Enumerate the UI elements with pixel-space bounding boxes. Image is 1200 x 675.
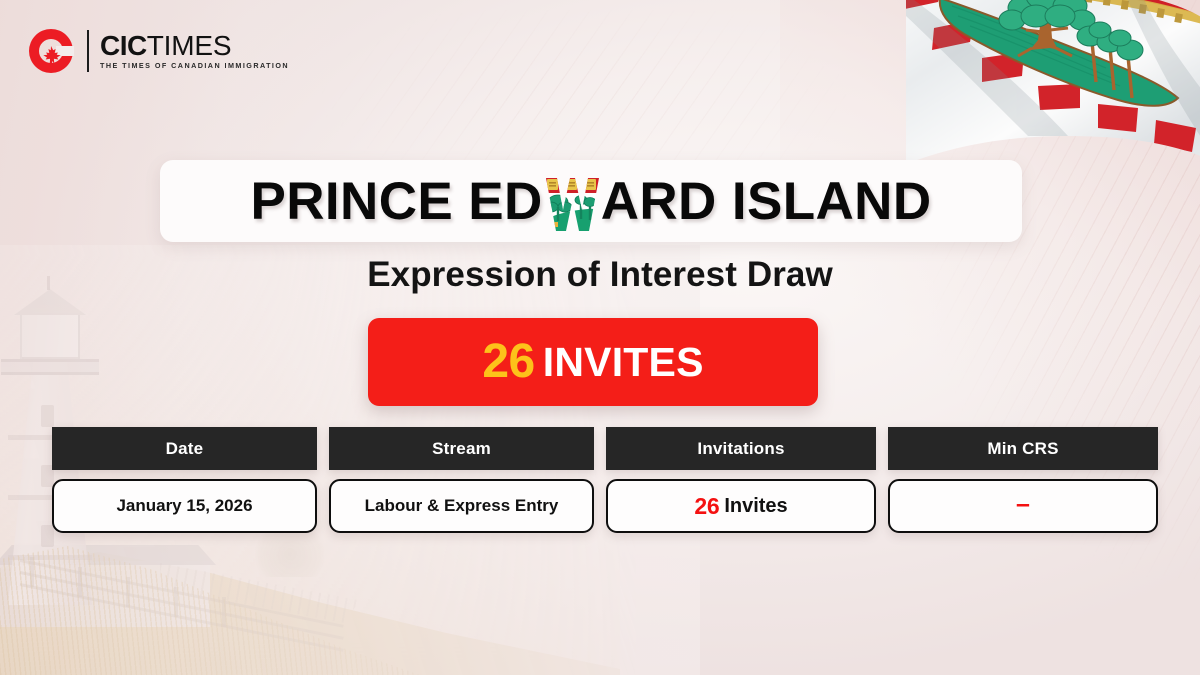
table-header-invitations: Invitations [606,427,876,470]
table-header-date: Date [52,427,317,470]
logo-name-bold: CIC [100,30,147,61]
page-subtitle: Expression of Interest Draw [0,255,1200,295]
logo-tagline: THE TIMES OF CANADIAN IMMIGRATION [100,61,289,70]
page-title-before: PRINCE ED [250,175,542,228]
draw-results-table: Date Stream Invitations Min CRS January … [52,427,1148,533]
table-row: January 15, 2026 Labour & Express Entry … [52,479,1148,533]
table-cell-invitations-unit: Invites [724,495,787,518]
logo-title: CICTIMES [100,32,289,60]
cic-c-maple-leaf-mark [26,26,76,76]
pei-flag-letter-w [544,176,600,233]
table-cell-min-crs: – [888,479,1158,533]
table-header-row: Date Stream Invitations Min CRS [52,427,1148,470]
table-header-stream: Stream [329,427,594,470]
table-cell-invitations: 26 Invites [606,479,876,533]
invites-banner-label: INVITES [543,342,704,383]
table-header-min-crs: Min CRS [888,427,1158,470]
logo-name-light: TIMES [147,30,232,61]
invites-banner-number: 26 [482,338,534,386]
page-title-after: ARD ISLAND [601,175,932,228]
table-cell-stream: Labour & Express Entry [329,479,594,533]
table-cell-date: January 15, 2026 [52,479,317,533]
table-cell-invitations-number: 26 [694,493,719,520]
logo-text: CICTIMES THE TIMES OF CANADIAN IMMIGRATI… [100,32,289,70]
prince-edward-island-flag [878,0,1200,172]
logo-divider [87,30,89,72]
table-cell-min-crs-value: – [1016,492,1030,517]
cic-times-logo[interactable]: CICTIMES THE TIMES OF CANADIAN IMMIGRATI… [26,26,289,76]
invites-banner: 26 INVITES [368,318,818,406]
page-title: PRINCE ED [250,173,931,230]
headline-card: PRINCE ED [160,160,1022,242]
poster-canvas: CICTIMES THE TIMES OF CANADIAN IMMIGRATI… [0,0,1200,675]
